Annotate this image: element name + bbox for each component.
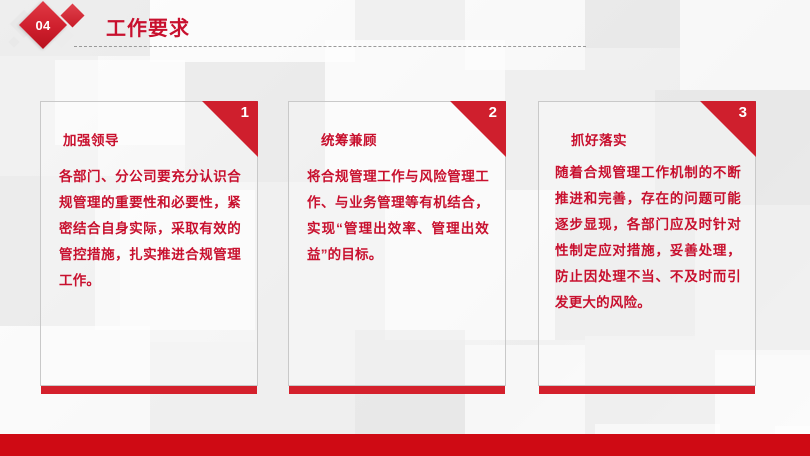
card-body-text: 各部门、分公司要充分认识合规管理的重要性和必要性，紧密结合自身实际，采取有效的管… [59, 164, 241, 294]
card-corner-ribbon: 1 [202, 101, 258, 157]
page-title: 工作要求 [106, 12, 190, 41]
slide-root: 04 工作要求 1 加强领导 各部门、分公司要充分认识合规管理的重要性和必要性，… [0, 0, 810, 456]
slide-bottom-band [0, 434, 810, 456]
corner-triangle-shape [450, 101, 506, 157]
card-title: 抓好落实 [571, 129, 627, 149]
section-number-label: 04 [26, 8, 60, 42]
card-footer-bar [41, 386, 257, 394]
card-title: 加强领导 [63, 129, 119, 149]
card-number-label: 1 [241, 104, 249, 121]
card-title: 统筹兼顾 [321, 129, 377, 149]
decorative-diamond-icon [8, 36, 19, 47]
slide-header: 04 工作要求 [0, 0, 810, 62]
card-body-text: 随着合规管理工作机制的不断推进和完善，存在的问题可能逐步显现，各部门应及时针对性… [555, 160, 741, 316]
header-divider [74, 46, 586, 47]
card-footer-bar [289, 386, 505, 394]
corner-triangle-shape [202, 101, 258, 157]
card-number-label: 3 [739, 104, 747, 121]
card-footer-bar [539, 386, 755, 394]
requirement-card: 1 加强领导 各部门、分公司要充分认识合规管理的重要性和必要性，紧密结合自身实际… [40, 101, 258, 386]
card-corner-ribbon: 3 [700, 101, 756, 157]
requirement-card: 2 统筹兼顾 将合规管理工作与风险管理工作、与业务管理等有机结合，实现“管理出效… [288, 101, 506, 386]
card-number-label: 2 [489, 104, 497, 121]
corner-triangle-shape [700, 101, 756, 157]
section-number-badge: 04 [8, 0, 100, 58]
decorative-diamond-icon [73, 32, 83, 42]
card-corner-ribbon: 2 [450, 101, 506, 157]
card-body-text: 将合规管理工作与风险管理工作、与业务管理等有机结合，实现“管理出效率、管理出效益… [307, 164, 489, 268]
requirement-card: 3 抓好落实 随着合规管理工作机制的不断推进和完善，存在的问题可能逐步显现，各部… [538, 101, 756, 386]
